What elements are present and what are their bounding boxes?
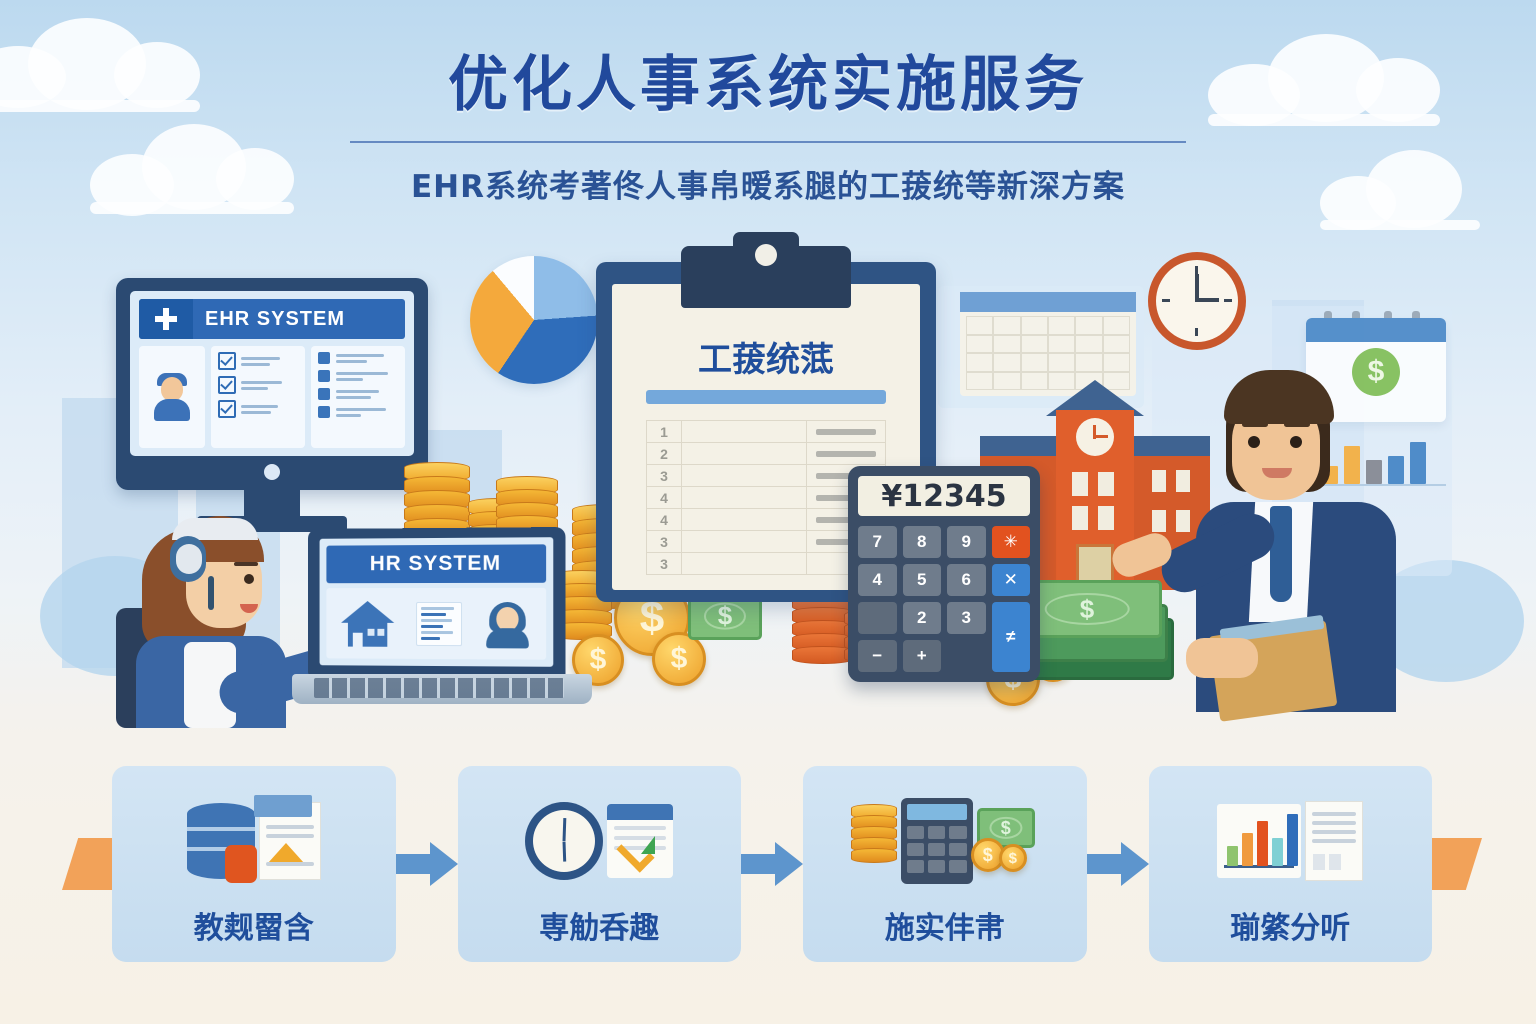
flow-step-1[interactable]: 教觌罶含 <box>112 766 396 962</box>
calc-key-8[interactable]: 8 <box>903 526 942 558</box>
flow-step-2[interactable]: 専觔呑趣 <box>458 766 742 962</box>
consultant-person <box>1190 352 1420 712</box>
poster-header: 优化人事系统实施服务 EHR系统考著佟人事帛暧系腿的工菝统等新深方案 <box>0 36 1536 206</box>
calendar-check-icon <box>607 804 673 878</box>
pie-chart <box>470 256 598 384</box>
money-icon: $ $ $ <box>977 804 1039 878</box>
calc-key-7[interactable]: 7 <box>858 526 897 558</box>
calc-key-9[interactable]: 9 <box>947 526 986 558</box>
dollar-symbol: $ <box>1045 593 1130 625</box>
ehr-system-label: EHR SYSTEM <box>193 308 405 331</box>
calculator-icon <box>901 798 973 884</box>
document-icon <box>1305 801 1363 881</box>
list-bullet-icon <box>318 352 330 364</box>
page-subtitle: EHR系统考著佟人事帛暧系腿的工菝统等新深方案 <box>0 161 1536 206</box>
calculator-display: ¥12345 <box>858 476 1030 516</box>
coin-dollar-icon: $ <box>999 844 1027 872</box>
monitor-power-dot <box>264 464 280 480</box>
page-title: 优化人事系统实施服务 <box>0 36 1536 123</box>
calc-key-3[interactable]: 3 <box>947 602 986 634</box>
house-icon <box>341 601 394 647</box>
title-underline-bar <box>646 390 886 404</box>
flow-arrow-1 <box>396 842 458 886</box>
calc-key-minus[interactable]: − <box>858 640 897 672</box>
checklist-card <box>211 346 305 448</box>
database-icon <box>187 803 255 879</box>
dollar-symbol: $ <box>989 817 1022 839</box>
list-bullet-icon <box>318 388 330 400</box>
flow-step-3[interactable]: $ $ $ 施实仹帇 <box>803 766 1087 962</box>
table-row: 1 <box>647 421 886 443</box>
document-icon <box>416 601 462 645</box>
calc-key-5[interactable]: 5 <box>903 564 942 596</box>
checkbox-icon[interactable] <box>218 376 236 394</box>
flow-step-4[interactable]: 瑐綮分听 <box>1149 766 1433 962</box>
coin-stack <box>851 804 897 878</box>
clock-icon <box>525 802 603 880</box>
coin-dollar-icon: $ <box>652 632 706 686</box>
flow-step-3-label: 施实仹帇 <box>885 903 1005 947</box>
clipboard-title: 工菝统䓜 <box>612 332 920 381</box>
process-flow: 教觌罶含 専觔呑趣 <box>112 766 1432 962</box>
calc-key-blank[interactable] <box>858 602 897 634</box>
calc-key-6[interactable]: 6 <box>947 564 986 596</box>
dollar-symbol: $ <box>704 603 746 630</box>
checkbox-icon[interactable] <box>218 400 236 418</box>
calc-key-equals[interactable]: ≠ <box>992 602 1031 672</box>
document-icon <box>259 802 321 880</box>
table-row: 2 <box>647 443 886 465</box>
ehr-monitor[interactable]: EHR SYSTEM <box>116 278 428 490</box>
clipboard-clip <box>681 246 851 308</box>
list-bullet-icon <box>318 406 330 418</box>
poster-canvas: 优化人事系统实施服务 EHR系统考著佟人事帛暧系腿的工菝统等新深方案 $ <box>0 0 1536 1024</box>
hr-laptop[interactable]: HR SYSTEM <box>292 528 592 718</box>
title-divider <box>350 141 1186 143</box>
flow-step-2-label: 専觔呑趣 <box>539 903 659 947</box>
calc-key-asterisk[interactable]: ✳ <box>992 526 1031 558</box>
calc-key-multiply[interactable]: ✕ <box>992 564 1031 596</box>
building-clock-icon <box>1076 418 1114 456</box>
list-bullet-icon <box>318 370 330 382</box>
checkbox-icon[interactable] <box>218 352 236 370</box>
person-avatar-icon <box>484 599 531 647</box>
calculator[interactable]: ¥12345 7 8 9 ✳ 4 5 6 ✕ 2 3 ≠ − + <box>848 466 1040 682</box>
flow-step-1-label: 教觌罶含 <box>194 903 314 947</box>
calc-key-2[interactable]: 2 <box>903 602 942 634</box>
wall-clock-icon <box>1148 252 1246 350</box>
list-card <box>311 346 405 448</box>
hr-system-label: HR SYSTEM <box>326 544 546 583</box>
flow-arrow-2 <box>741 842 803 886</box>
user-avatar-icon <box>139 346 205 448</box>
bar-chart-icon <box>1217 804 1301 878</box>
calc-key-4[interactable]: 4 <box>858 564 897 596</box>
flow-step-4-label: 瑐綮分听 <box>1230 903 1350 947</box>
medical-plus-icon <box>139 299 193 339</box>
calc-key-plus[interactable]: + <box>903 640 942 672</box>
flow-arrow-3 <box>1087 842 1149 886</box>
